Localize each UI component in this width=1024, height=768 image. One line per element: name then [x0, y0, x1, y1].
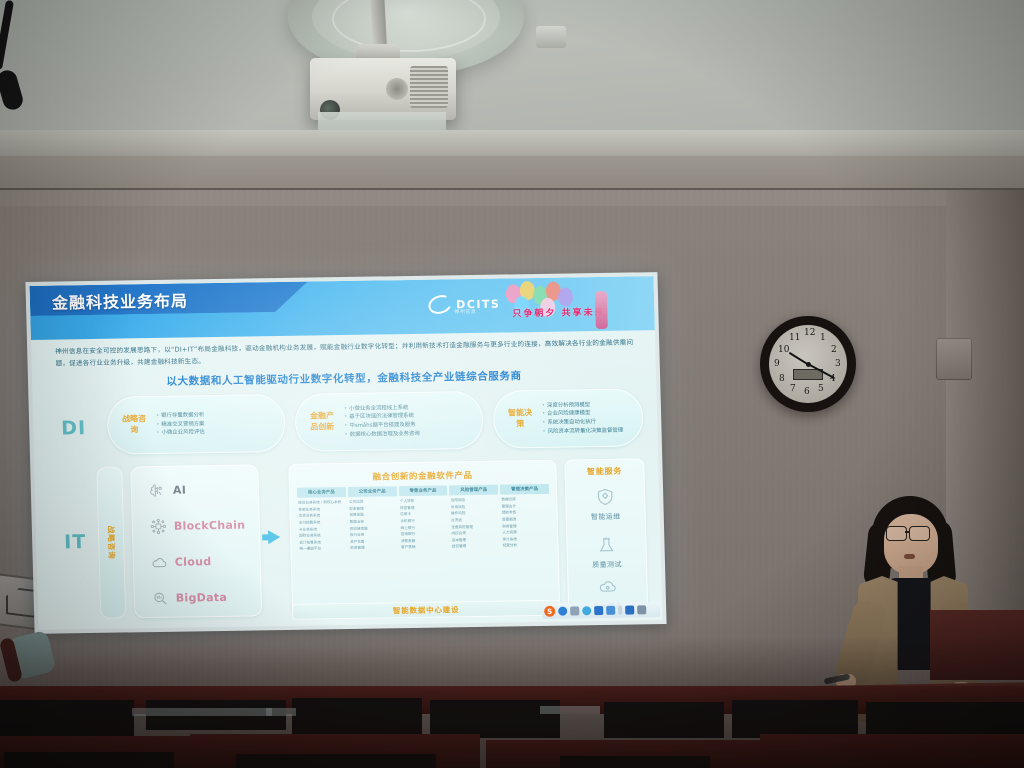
- clock-numeral-3: 3: [835, 359, 841, 369]
- services-title: 智能服务: [564, 465, 644, 477]
- products-table: 核心业务产品 综合业务系统 / 新核心系统 存款业务系统 信贷业务系统 支付结算…: [297, 484, 551, 553]
- projection-screen: 金融科技业务布局 DCITS 神州信息 只争朝夕 共享未来: [25, 272, 666, 634]
- projector-vent: [410, 66, 448, 108]
- tech-item-bigdata: BigData: [152, 589, 228, 607]
- services-card: 智能服务 智能运维: [564, 458, 648, 611]
- sogou-s-icon[interactable]: S: [544, 606, 555, 617]
- list-item: 风险资本流转量化决策监督管理: [548, 427, 624, 434]
- brain-icon: [149, 482, 166, 499]
- seat-front-back-1: [4, 752, 174, 768]
- ime-menu-icon[interactable]: [637, 605, 646, 614]
- ceiling-beam-upper: [0, 130, 1024, 156]
- ime-keyboard-icon[interactable]: [606, 606, 615, 615]
- column-header: 核心业务产品: [297, 487, 346, 498]
- projector-fan: [386, 78, 408, 100]
- seat-back-1: [0, 700, 134, 738]
- seat-row-front-4: [760, 734, 1024, 768]
- ime-umbrella-icon[interactable]: [625, 605, 634, 614]
- ime-taskbar[interactable]: S: [542, 602, 660, 619]
- slide-header: 金融科技业务布局 DCITS 神州信息 只争朝夕 共享未来: [30, 276, 655, 340]
- bigdata-icon: [152, 590, 169, 607]
- clock-center-pin: [806, 362, 811, 367]
- tech-label-blockchain: BlockChain: [174, 519, 246, 533]
- products-column: 管理决策产品 数据仓库 管理会计 绩效考核 监管报送 财务管理 人力资源 审计系…: [500, 484, 550, 550]
- podium: [930, 610, 1024, 680]
- clock-numeral-1: 1: [820, 333, 826, 343]
- slide-title: 金融科技业务布局: [52, 287, 189, 313]
- tech-label-ai: AI: [173, 484, 187, 497]
- products-column: 核心业务产品 综合业务系统 / 新核心系统 存款业务系统 信贷业务系统 支付结算…: [297, 487, 347, 553]
- ime-chinese-icon[interactable]: [558, 607, 567, 616]
- wall-clock: 12 1 2 3 4 5 6 7 8 9 10 11: [760, 316, 856, 412]
- presenter-glasses-bridge: [905, 531, 910, 533]
- list-item: 数据核心数据治理及业务咨询: [350, 431, 420, 438]
- seat-back-5: [604, 702, 724, 738]
- projector-body: [310, 58, 456, 120]
- table-cell: 综合业务系统 / 新核心系统: [297, 499, 346, 506]
- di-group-product-tag: 金融产品创新: [307, 411, 338, 433]
- di-group-strategy-items: •银行存量数据分析 •精准交叉营销方案 •小微企业风险评估: [156, 411, 205, 438]
- clock-numeral-12: 12: [804, 328, 815, 338]
- flow-arrow-icon: [268, 530, 280, 544]
- seat-gap-2: [266, 708, 296, 716]
- list-item: 小微业务全流程线上系统: [349, 405, 408, 412]
- blockchain-icon: [150, 518, 167, 535]
- it-vertical-tab: 战略咨询: [96, 467, 126, 619]
- slide-paragraph: 神州信息在安全可控的发展思路下，以“DI+IT”布局金融科技，驱动金融机构业务发…: [55, 336, 634, 369]
- ime-emoji-icon[interactable]: [582, 606, 591, 615]
- seat-gap-3: [540, 706, 600, 714]
- seat-back-7: [866, 702, 1024, 738]
- clock-numeral-10: 10: [778, 345, 789, 355]
- clock-numeral-5: 5: [818, 384, 824, 394]
- datacenter-footer-label: 智能数据中心建设: [393, 604, 460, 616]
- ime-mic-icon[interactable]: [594, 606, 603, 615]
- wall-vent: [936, 338, 972, 380]
- list-item: 小微企业风险评估: [162, 430, 205, 437]
- presenter-mouth: [904, 554, 915, 559]
- seat-back-6: [732, 700, 858, 738]
- table-cell: 客户营销: [400, 544, 449, 551]
- dcits-logo-subtext: 神州信息: [454, 308, 476, 315]
- tech-item-ai: AI: [149, 482, 187, 500]
- dcits-logo-mark: [426, 292, 455, 317]
- list-item: 企业风险健康模型: [547, 410, 590, 417]
- clock-numeral-7: 7: [790, 384, 796, 394]
- presentation-slide: 金融科技业务布局 DCITS 神州信息 只争朝夕 共享未来: [30, 276, 663, 630]
- clock-numeral-8: 8: [779, 374, 785, 384]
- seat-front-back-2: [236, 754, 436, 768]
- datacenter-footer-bar: 智能数据中心建设: [292, 600, 560, 620]
- column-header: 零售业务产品: [398, 485, 447, 496]
- mascot-figure: [595, 291, 608, 329]
- products-column: 公司业务产品 公司信贷 现金管理 贸易金融 票据业务 供应链金融 投行业务 资产…: [348, 486, 398, 552]
- tech-label-cloud: Cloud: [175, 555, 212, 569]
- lecture-hall-photo: 12 1 2 3 4 5 6 7 8 9 10 11 金融科技业务布局: [0, 0, 1024, 768]
- clock-numeral-11: 11: [789, 333, 800, 343]
- tech-item-cloud: Cloud: [151, 553, 212, 571]
- service-label-qa: 质量测试: [567, 559, 647, 570]
- service-item-ops: 智能运维: [565, 486, 646, 522]
- it-vertical-tab-label: 战略咨询: [105, 526, 117, 560]
- it-block: IT 战略咨询 AI: [48, 458, 648, 619]
- presenter-glasses-right: [909, 526, 930, 541]
- di-row-label: DI: [61, 417, 86, 439]
- clock-numeral-9: 9: [774, 359, 780, 369]
- list-item: 基于区块链的法律管理系统: [349, 413, 414, 420]
- tech-item-blockchain: BlockChain: [150, 517, 246, 535]
- clock-numeral-2: 2: [831, 345, 837, 355]
- wall-soffit: [0, 190, 1024, 206]
- column-header: 管理决策产品: [500, 484, 549, 495]
- table-cell: 财资管理: [349, 545, 398, 552]
- table-cell: 经营分析: [502, 542, 551, 549]
- di-group-decision: 智能决策 •深度分析预测模型 •企业风险健康模型 •系统决策自动化执行 •风险资…: [492, 388, 644, 448]
- cloud-service-icon: [596, 582, 618, 601]
- ime-punct-icon[interactable]: [570, 606, 579, 615]
- clock-numeral-6: 6: [804, 387, 810, 397]
- list-item: 银行存量数据分析: [161, 412, 204, 419]
- wall-speaker-grille: [6, 586, 36, 618]
- brand-slogan: 只争朝夕 共享未来: [512, 305, 605, 319]
- seat-back-3: [292, 698, 422, 738]
- seat-front-back-3: [560, 756, 710, 768]
- list-item: 精准交叉营销方案: [161, 421, 204, 428]
- di-row: DI 战略咨询 •银行存量数据分析 •精准交叉营销方案 •小微企业风险评估 金融…: [46, 386, 644, 461]
- products-title: 融合创新的金融软件产品: [288, 468, 556, 484]
- presenter-glasses-left: [886, 526, 907, 541]
- it-row-label: IT: [64, 531, 87, 553]
- products-card: 融合创新的金融软件产品 核心业务产品 综合业务系统 / 新核心系统 存款业务系统…: [288, 460, 560, 616]
- shield-gear-icon: [594, 492, 616, 511]
- service-item-qa: 质量测试: [566, 534, 647, 570]
- products-column: 风险管理产品 信用风险 市场风险 操作风险 反洗钱 全面风险管理 内控合规 资本…: [449, 485, 499, 551]
- column-header: 风险管理产品: [449, 485, 498, 496]
- di-group-strategy-tag: 战略咨询: [119, 414, 150, 436]
- di-group-product: 金融产品创新 •小微业务全流程线上系统 •基于区块链的法律管理系统 •中småh…: [294, 391, 484, 452]
- list-item: 中småhs据平台搭建及服务: [349, 422, 415, 429]
- table-cell: 统一渠道平台: [298, 545, 347, 552]
- ceiling-beam-lower: [0, 156, 1024, 190]
- table-cell: 授信管理: [451, 543, 500, 550]
- clock-face: 12 1 2 3 4 5 6 7 8 9 10 11: [769, 325, 847, 403]
- ceiling-sensor: [536, 26, 566, 48]
- di-group-strategy: 战略咨询 •银行存量数据分析 •精准交叉营销方案 •小微企业风险评估: [106, 394, 286, 455]
- ime-sep-icon: [618, 606, 622, 615]
- di-group-decision-items: •深度分析预测模型 •企业风险健康模型 •系统决策自动化执行 •风险资本流转量化…: [542, 400, 624, 436]
- cloud-icon: [151, 554, 168, 571]
- service-label-ops: 智能运维: [566, 511, 646, 522]
- di-group-product-items: •小微业务全流程线上系统 •基于区块链的法律管理系统 •中småhs据平台搭建及…: [344, 403, 420, 439]
- seat-gap-1: [132, 708, 272, 716]
- column-header: 公司业务产品: [348, 486, 397, 497]
- flask-test-icon: [595, 540, 617, 559]
- list-item: 系统决策自动化执行: [547, 419, 596, 426]
- presenter-face: [884, 514, 938, 574]
- tech-label-bigdata: BigData: [176, 591, 228, 605]
- list-item: 深度分析预测模型: [547, 402, 590, 409]
- tech-stack-card: AI Bloc: [130, 464, 262, 618]
- products-column: 零售业务产品 个人贷款 财富管理 信用卡 手机银行 网上银行 直销银行 消费金融…: [398, 485, 448, 551]
- di-group-decision-tag: 智能决策: [505, 408, 536, 430]
